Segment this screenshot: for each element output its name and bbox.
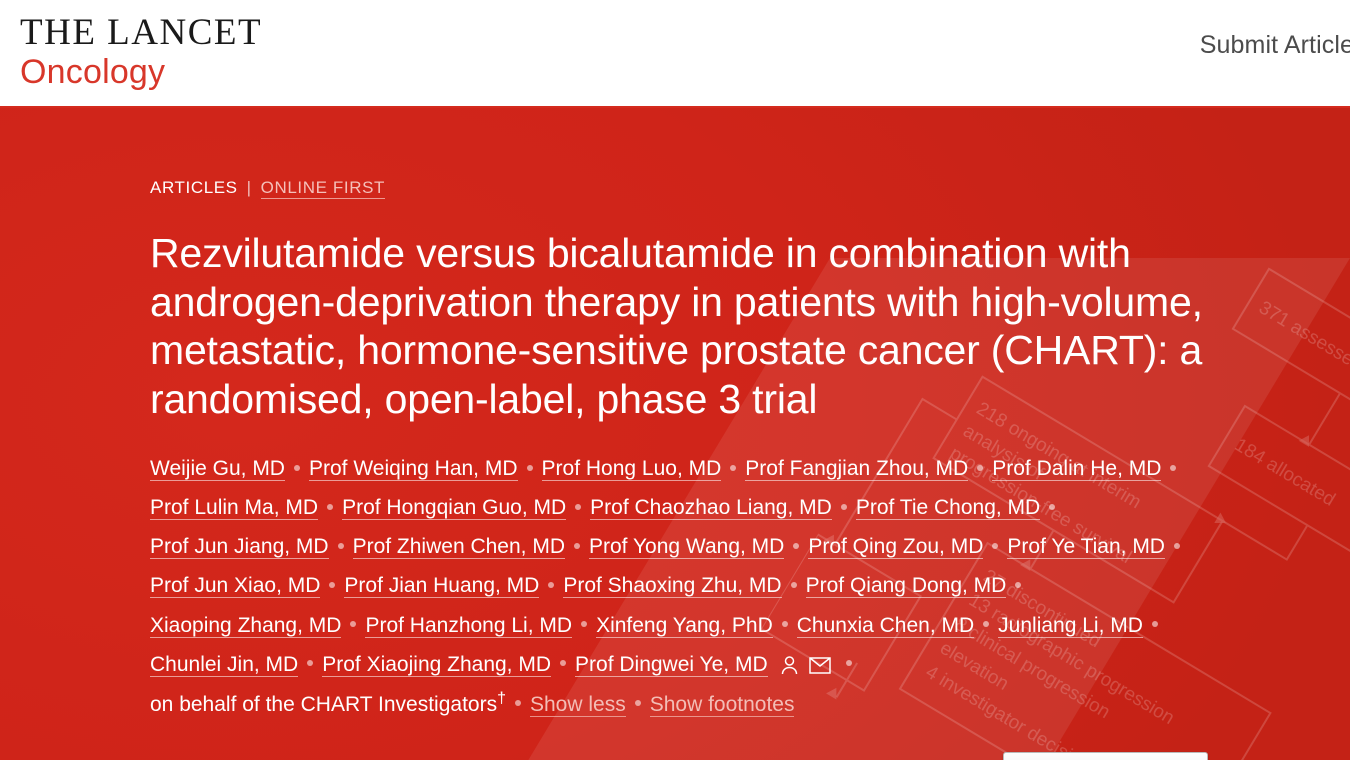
article-title: Rezvilutamide versus bicalutamide in com… bbox=[150, 229, 1250, 423]
author-separator-dot bbox=[327, 504, 333, 510]
author-separator-dot bbox=[515, 700, 521, 706]
author-link[interactable]: Prof Zhiwen Chen, MD bbox=[353, 535, 565, 559]
author-separator-dot bbox=[1170, 465, 1176, 471]
online-first-link[interactable]: ONLINE FIRST bbox=[261, 178, 385, 199]
envelope-icon[interactable] bbox=[809, 657, 831, 674]
author-link[interactable]: Prof Dalin He, MD bbox=[992, 457, 1161, 481]
author-link[interactable]: Prof Hong Luo, MD bbox=[542, 457, 722, 481]
article-hero: 218 ongoing at interim analysis of progr… bbox=[0, 108, 1350, 760]
site-logo[interactable]: THE LANCET Oncology bbox=[0, 14, 262, 91]
author-link[interactable]: Prof Jun Jiang, MD bbox=[150, 535, 329, 559]
kicker-separator: | bbox=[247, 178, 252, 198]
author-separator-dot bbox=[983, 621, 989, 627]
article-landing-page: THE LANCET Oncology Submit Article bbox=[0, 0, 1350, 760]
author-separator-dot bbox=[841, 504, 847, 510]
show-footnotes-link[interactable]: Show footnotes bbox=[650, 693, 795, 717]
author-link[interactable]: Chunxia Chen, MD bbox=[797, 614, 974, 638]
author-separator-dot bbox=[560, 660, 566, 666]
author-separator-dot bbox=[782, 621, 788, 627]
article-kicker: ARTICLES | ONLINE FIRST bbox=[150, 178, 1350, 199]
author-link[interactable]: Prof Chaozhao Liang, MD bbox=[590, 496, 832, 520]
hero-content: ARTICLES | ONLINE FIRST Rezvilutamide ve… bbox=[0, 108, 1350, 760]
author-link[interactable]: Prof Lulin Ma, MD bbox=[150, 496, 318, 520]
author-separator-dot bbox=[329, 582, 335, 588]
author-link[interactable]: Weijie Gu, MD bbox=[150, 457, 285, 481]
header-nav: Submit Article bbox=[1200, 14, 1350, 76]
author-link[interactable]: Prof Ye Tian, MD bbox=[1007, 535, 1165, 559]
author-separator-dot bbox=[1152, 621, 1158, 627]
person-icon[interactable] bbox=[780, 655, 799, 676]
author-link[interactable]: Prof Weiqing Han, MD bbox=[309, 457, 518, 481]
author-link[interactable]: Prof Xiaojing Zhang, MD bbox=[322, 653, 551, 677]
author-list: Weijie Gu, MDProf Weiqing Han, MDProf Ho… bbox=[150, 449, 1215, 723]
author-link[interactable]: Prof Jian Huang, MD bbox=[344, 574, 539, 598]
author-separator-dot bbox=[977, 465, 983, 471]
author-separator-dot bbox=[574, 543, 580, 549]
article-type-label: ARTICLES bbox=[150, 178, 238, 198]
author-link[interactable]: Prof Jun Xiao, MD bbox=[150, 574, 320, 598]
corresponding-author-icons bbox=[780, 655, 831, 676]
author-separator-dot bbox=[294, 465, 300, 471]
author-link[interactable]: Prof Yong Wang, MD bbox=[589, 535, 784, 559]
author-separator-dot bbox=[791, 582, 797, 588]
author-link[interactable]: Chunlei Jin, MD bbox=[150, 653, 298, 677]
publication-info: Published: September 05, 2022 DOI: https… bbox=[150, 752, 1350, 760]
author-link[interactable]: Prof Hongqian Guo, MD bbox=[342, 496, 566, 520]
author-link[interactable]: Prof Qiang Dong, MD bbox=[806, 574, 1007, 598]
author-separator-dot bbox=[1174, 543, 1180, 549]
author-separator-dot bbox=[1015, 582, 1021, 588]
corresponding-author-link[interactable]: Prof Dingwei Ye, MD bbox=[575, 653, 768, 677]
author-link[interactable]: Prof Qing Zou, MD bbox=[808, 535, 983, 559]
author-separator-dot bbox=[730, 465, 736, 471]
brand-primary-text: THE LANCET bbox=[20, 14, 262, 53]
author-separator-dot bbox=[338, 543, 344, 549]
author-separator-dot bbox=[307, 660, 313, 666]
author-separator-dot bbox=[635, 700, 641, 706]
author-separator-dot bbox=[992, 543, 998, 549]
show-less-link[interactable]: Show less bbox=[530, 693, 626, 717]
author-separator-dot bbox=[581, 621, 587, 627]
site-header: THE LANCET Oncology Submit Article bbox=[0, 0, 1350, 108]
author-separator-dot bbox=[1049, 504, 1055, 510]
author-link[interactable]: Prof Tie Chong, MD bbox=[856, 496, 1040, 520]
group-author-note: on behalf of the CHART Investigators bbox=[150, 693, 497, 716]
author-link[interactable]: Junliang Li, MD bbox=[998, 614, 1143, 638]
author-link[interactable]: Prof Hanzhong Li, MD bbox=[365, 614, 572, 638]
submit-article-link[interactable]: Submit Article bbox=[1200, 31, 1350, 60]
author-separator-dot bbox=[527, 465, 533, 471]
author-link[interactable]: Xiaoping Zhang, MD bbox=[150, 614, 341, 638]
brand-journal-text: Oncology bbox=[20, 55, 262, 91]
author-link[interactable]: Prof Fangjian Zhou, MD bbox=[745, 457, 968, 481]
author-separator-dot bbox=[793, 543, 799, 549]
author-separator-dot bbox=[575, 504, 581, 510]
author-link[interactable]: Prof Shaoxing Zhu, MD bbox=[563, 574, 781, 598]
author-separator-dot bbox=[846, 660, 852, 666]
author-link[interactable]: Xinfeng Yang, PhD bbox=[596, 614, 773, 638]
author-separator-dot bbox=[548, 582, 554, 588]
footnote-marker: † bbox=[497, 690, 506, 707]
author-separator-dot bbox=[350, 621, 356, 627]
crossmark-badge[interactable]: Check for updates bbox=[1003, 752, 1208, 760]
